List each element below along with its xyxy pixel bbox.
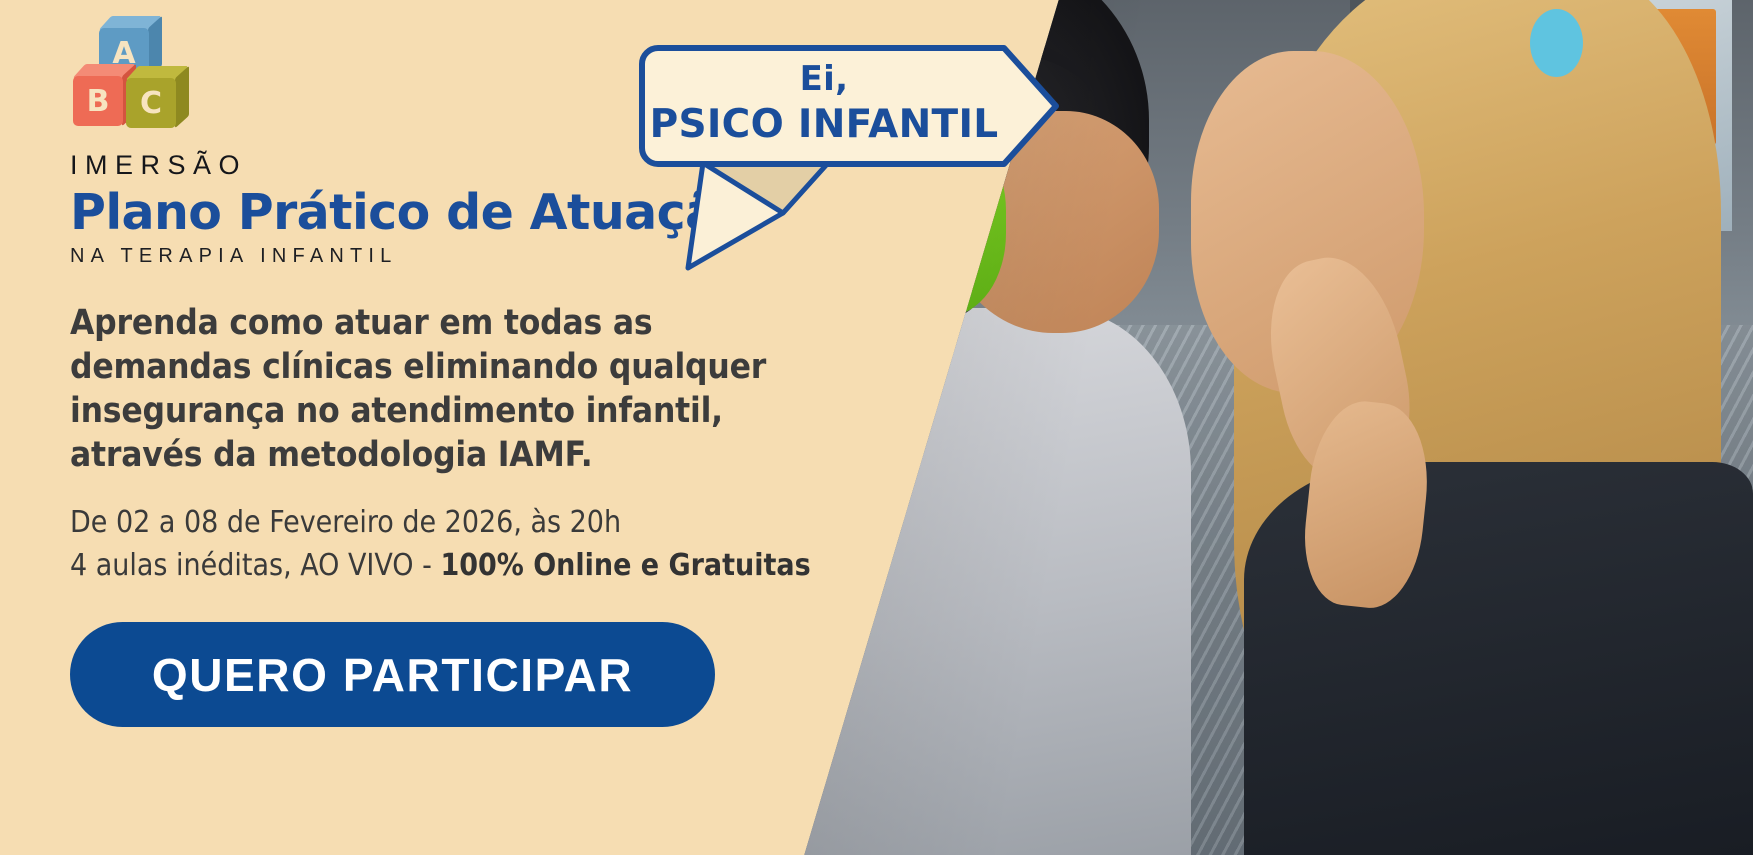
- event-classes-line: 4 aulas inéditas, AO VIVO - 100% Online …: [70, 546, 960, 587]
- classes-prefix: 4 aulas inéditas, AO VIVO -: [70, 548, 440, 583]
- lede-paragraph: Aprenda como atuar em todas as demandas …: [70, 301, 810, 477]
- bubble-body: [642, 48, 1056, 164]
- quero-participar-button[interactable]: QUERO PARTICIPAR: [70, 622, 715, 727]
- speech-bubble: Ei, PSICO INFANTIL: [628, 18, 1088, 308]
- lede-line-2: demandas clínicas eliminando qualquer: [70, 345, 810, 389]
- lede-line-3: insegurança no atendimento infantil,: [70, 389, 810, 433]
- block-c-letter: C: [126, 78, 176, 128]
- promo-banner: Ei, PSICO INFANTIL A B C IMERSÃO P: [0, 0, 1753, 855]
- classes-highlight: 100% Online e Gratuitas: [440, 548, 810, 583]
- block-c-side: [175, 66, 189, 129]
- block-b-icon: B: [73, 76, 123, 126]
- event-date-line: De 02 a 08 de Fevereiro de 2026, às 20h: [70, 503, 960, 544]
- lede-line-4: através da metodologia IAMF.: [70, 433, 810, 477]
- block-c-icon: C: [126, 78, 176, 128]
- block-b-letter: B: [73, 76, 123, 126]
- abc-blocks-logo: A B C: [70, 26, 188, 138]
